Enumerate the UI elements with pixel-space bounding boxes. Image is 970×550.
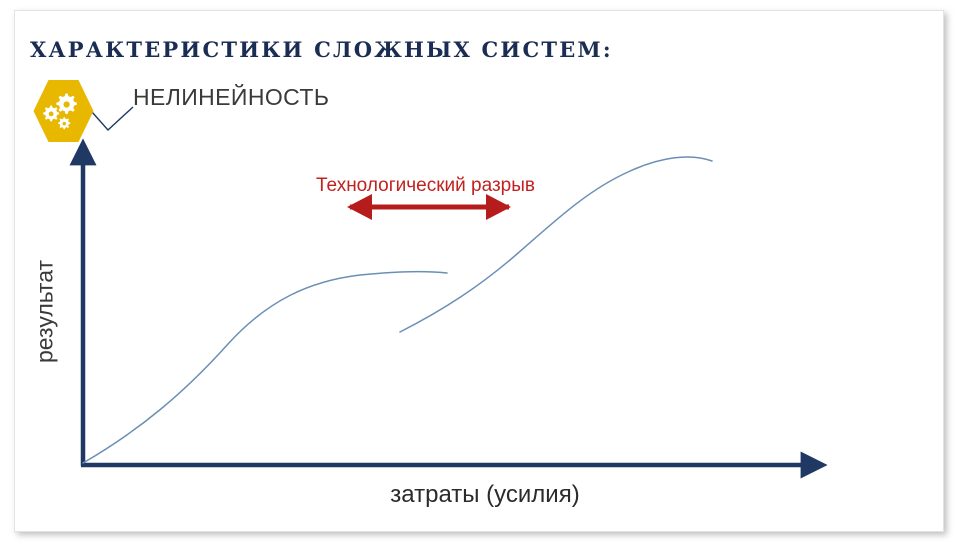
x-axis-label: затраты (усилия): [0, 483, 970, 507]
hexagon-badge: [34, 80, 94, 142]
page-title: ХАРАКТЕРИСТИКИ СЛОЖНЫХ СИСТЕМ:: [30, 39, 613, 60]
chart-canvas: [0, 0, 970, 550]
technology-gap-label: Технологический разрыв: [316, 176, 535, 195]
slide-root: ХАРАКТЕРИСТИКИ СЛОЖНЫХ СИСТЕМ: НЕЛИНЕЙНО…: [0, 0, 970, 550]
s-curve-first: [83, 272, 447, 463]
callout-connector-line: [92, 107, 133, 130]
y-axis-label: результат: [34, 252, 57, 372]
hexagon-shape: [34, 80, 94, 142]
characteristic-label: НЕЛИНЕЙНОСТЬ: [133, 86, 329, 109]
